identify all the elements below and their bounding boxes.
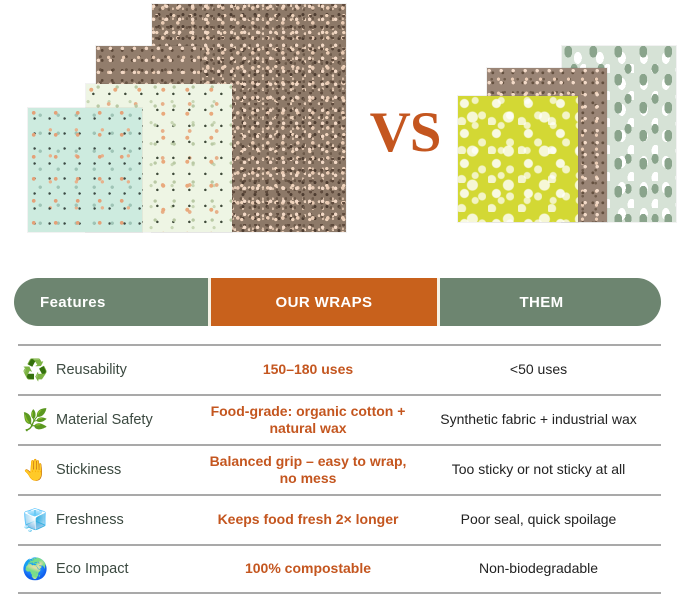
- our-wraps-value: Food-grade: organic cotton + natural wax: [200, 397, 416, 444]
- feature-cell: ♻️ Reusability: [18, 360, 200, 381]
- table-row: ♻️ Reusability 150–180 uses <50 uses: [18, 344, 661, 394]
- table-header-bar: Features OUR WRAPS THEM: [14, 278, 661, 326]
- them-value: Too sticky or not sticky at all: [416, 455, 661, 485]
- wrap-sheet-chartreuse-botanical: [458, 96, 578, 222]
- feature-cell: 🧊 Freshness: [18, 510, 200, 531]
- them-value: <50 uses: [416, 355, 661, 385]
- column-header-our-wraps: OUR WRAPS: [208, 278, 440, 326]
- our-wraps-value: 100% compostable: [200, 554, 416, 584]
- table-row: 🧊 Freshness Keeps food fresh 2× longer P…: [18, 494, 661, 544]
- table-row: 🌍 Eco Impact 100% compostable Non-biodeg…: [18, 544, 661, 594]
- hand-icon: 🤚: [22, 460, 46, 481]
- ice-cube-icon: 🧊: [22, 510, 46, 531]
- table-body: ♻️ Reusability 150–180 uses <50 uses 🌿 M…: [18, 344, 661, 594]
- our-wraps-value: 150–180 uses: [200, 355, 416, 385]
- them-value: Poor seal, quick spoilage: [416, 505, 661, 535]
- feature-label: Stickiness: [56, 462, 121, 478]
- feature-label: Reusability: [56, 362, 127, 378]
- comparison-table: Features OUR WRAPS THEM ♻️ Reusability 1…: [0, 262, 679, 594]
- table-row: 🤚 Stickiness Balanced grip – easy to wra…: [18, 444, 661, 494]
- feature-label: Freshness: [56, 512, 124, 528]
- them-value: Non-biodegradable: [416, 554, 661, 584]
- hero-product-comparison: VS: [0, 0, 679, 262]
- our-wraps-value: Balanced grip – easy to wrap, no mess: [200, 447, 416, 494]
- column-header-them: THEM: [440, 278, 661, 326]
- them-value: Synthetic fabric + industrial wax: [416, 405, 661, 435]
- column-header-features: Features: [14, 278, 208, 326]
- feature-cell: 🌍 Eco Impact: [18, 559, 200, 580]
- feature-cell: 🌿 Material Safety: [18, 410, 200, 431]
- feature-label: Eco Impact: [56, 561, 129, 577]
- table-row: 🌿 Material Safety Food-grade: organic co…: [18, 394, 661, 444]
- feature-cell: 🤚 Stickiness: [18, 460, 200, 481]
- our-wraps-value: Keeps food fresh 2× longer: [200, 505, 416, 535]
- globe-icon: 🌍: [22, 559, 46, 580]
- vs-label: VS: [362, 104, 448, 161]
- leaf-icon: 🌿: [22, 410, 46, 431]
- recycle-icon: ♻️: [22, 360, 46, 381]
- wrap-sheet-mint-floral: [28, 108, 142, 232]
- feature-label: Material Safety: [56, 412, 153, 428]
